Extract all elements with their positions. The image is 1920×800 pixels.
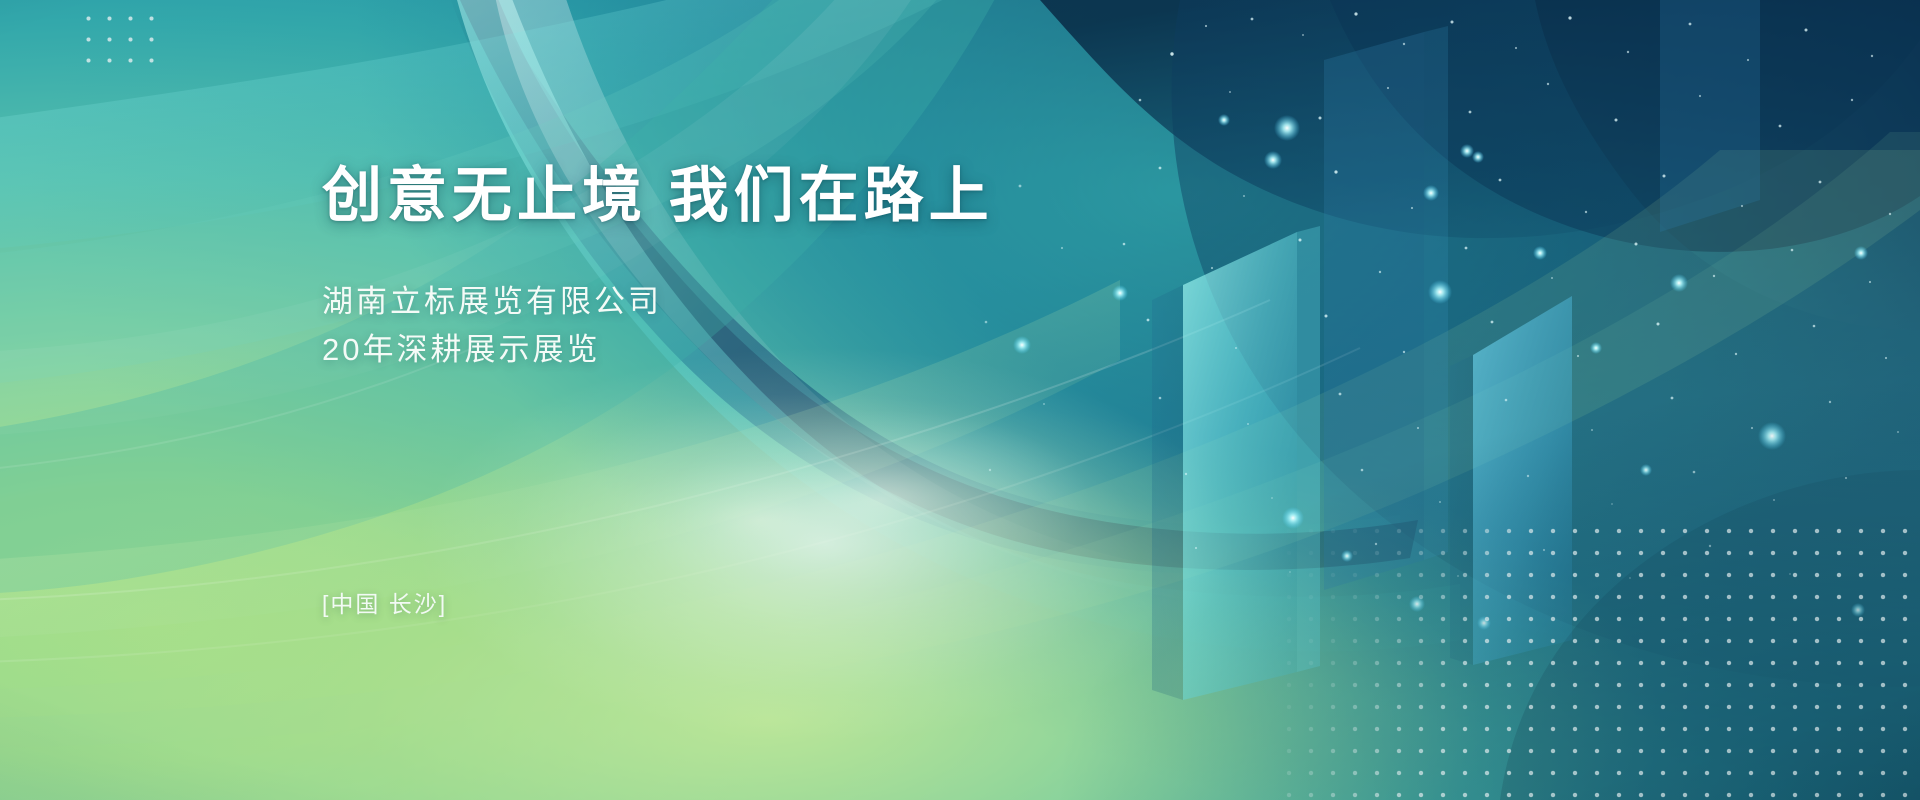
banner-headline: 创意无止境 我们在路上 [322, 160, 1142, 232]
banner-subtitle: 湖南立标展览有限公司 20年深耕展示展览 [322, 278, 1142, 374]
vignette-layer [0, 0, 1920, 800]
subtitle-line-experience: 20年深耕展示展览 [322, 326, 1142, 374]
subtitle-line-company: 湖南立标展览有限公司 [322, 278, 1142, 326]
banner-text-block: 创意无止境 我们在路上 湖南立标展览有限公司 20年深耕展示展览 [中国 长沙] [322, 160, 1142, 374]
banner-location: [中国 长沙] [322, 585, 447, 619]
promo-banner: 创意无止境 我们在路上 湖南立标展览有限公司 20年深耕展示展览 [中国 长沙] [0, 0, 1920, 800]
